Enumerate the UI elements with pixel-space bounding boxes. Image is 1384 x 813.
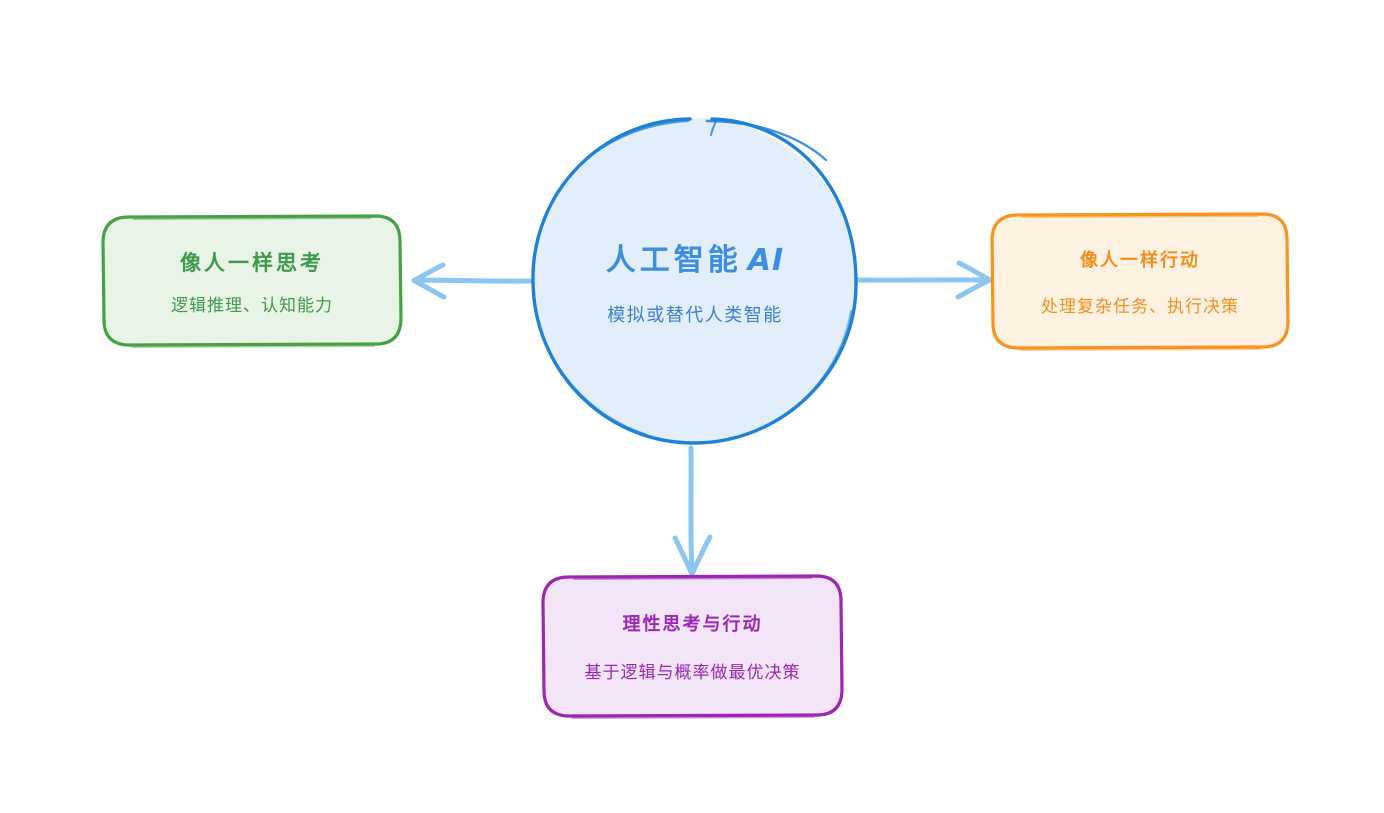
bottom-box-fill xyxy=(543,576,842,716)
connector-center-to-right xyxy=(858,263,990,297)
bottom-box-stroke-sketch-bottom xyxy=(572,717,814,718)
left-box-stroke-sketch-top xyxy=(134,218,370,219)
bottom-node-shape[interactable] xyxy=(543,576,842,718)
right-node-shape[interactable] xyxy=(992,214,1288,350)
right-box-stroke-sketch-bottom xyxy=(1021,349,1260,350)
right-box-fill xyxy=(992,214,1288,348)
mindmap-canvas: 人工智能AI 模拟或替代人类智能 像人一样思考 逻辑推理、认知能力 像人一样行动… xyxy=(0,0,1384,813)
center-node-shape[interactable] xyxy=(532,118,857,443)
arrowhead-right-lower xyxy=(958,280,990,297)
left-node-shape[interactable] xyxy=(103,216,401,347)
left-box-fill xyxy=(103,216,401,345)
connector-center-to-bottom xyxy=(675,448,710,574)
bottom-box-stroke-sketch-top xyxy=(574,578,811,579)
right-box-stroke-sketch-top xyxy=(1023,216,1257,217)
left-box-stroke-sketch-bottom xyxy=(132,346,374,347)
connector-line-left xyxy=(415,280,530,281)
arrowhead-bottom-right xyxy=(692,537,710,574)
mindmap-svg xyxy=(0,0,1384,813)
connector-center-to-left xyxy=(414,265,530,297)
connector-line-bottom xyxy=(691,448,692,573)
arrowhead-left-lower xyxy=(414,281,444,298)
